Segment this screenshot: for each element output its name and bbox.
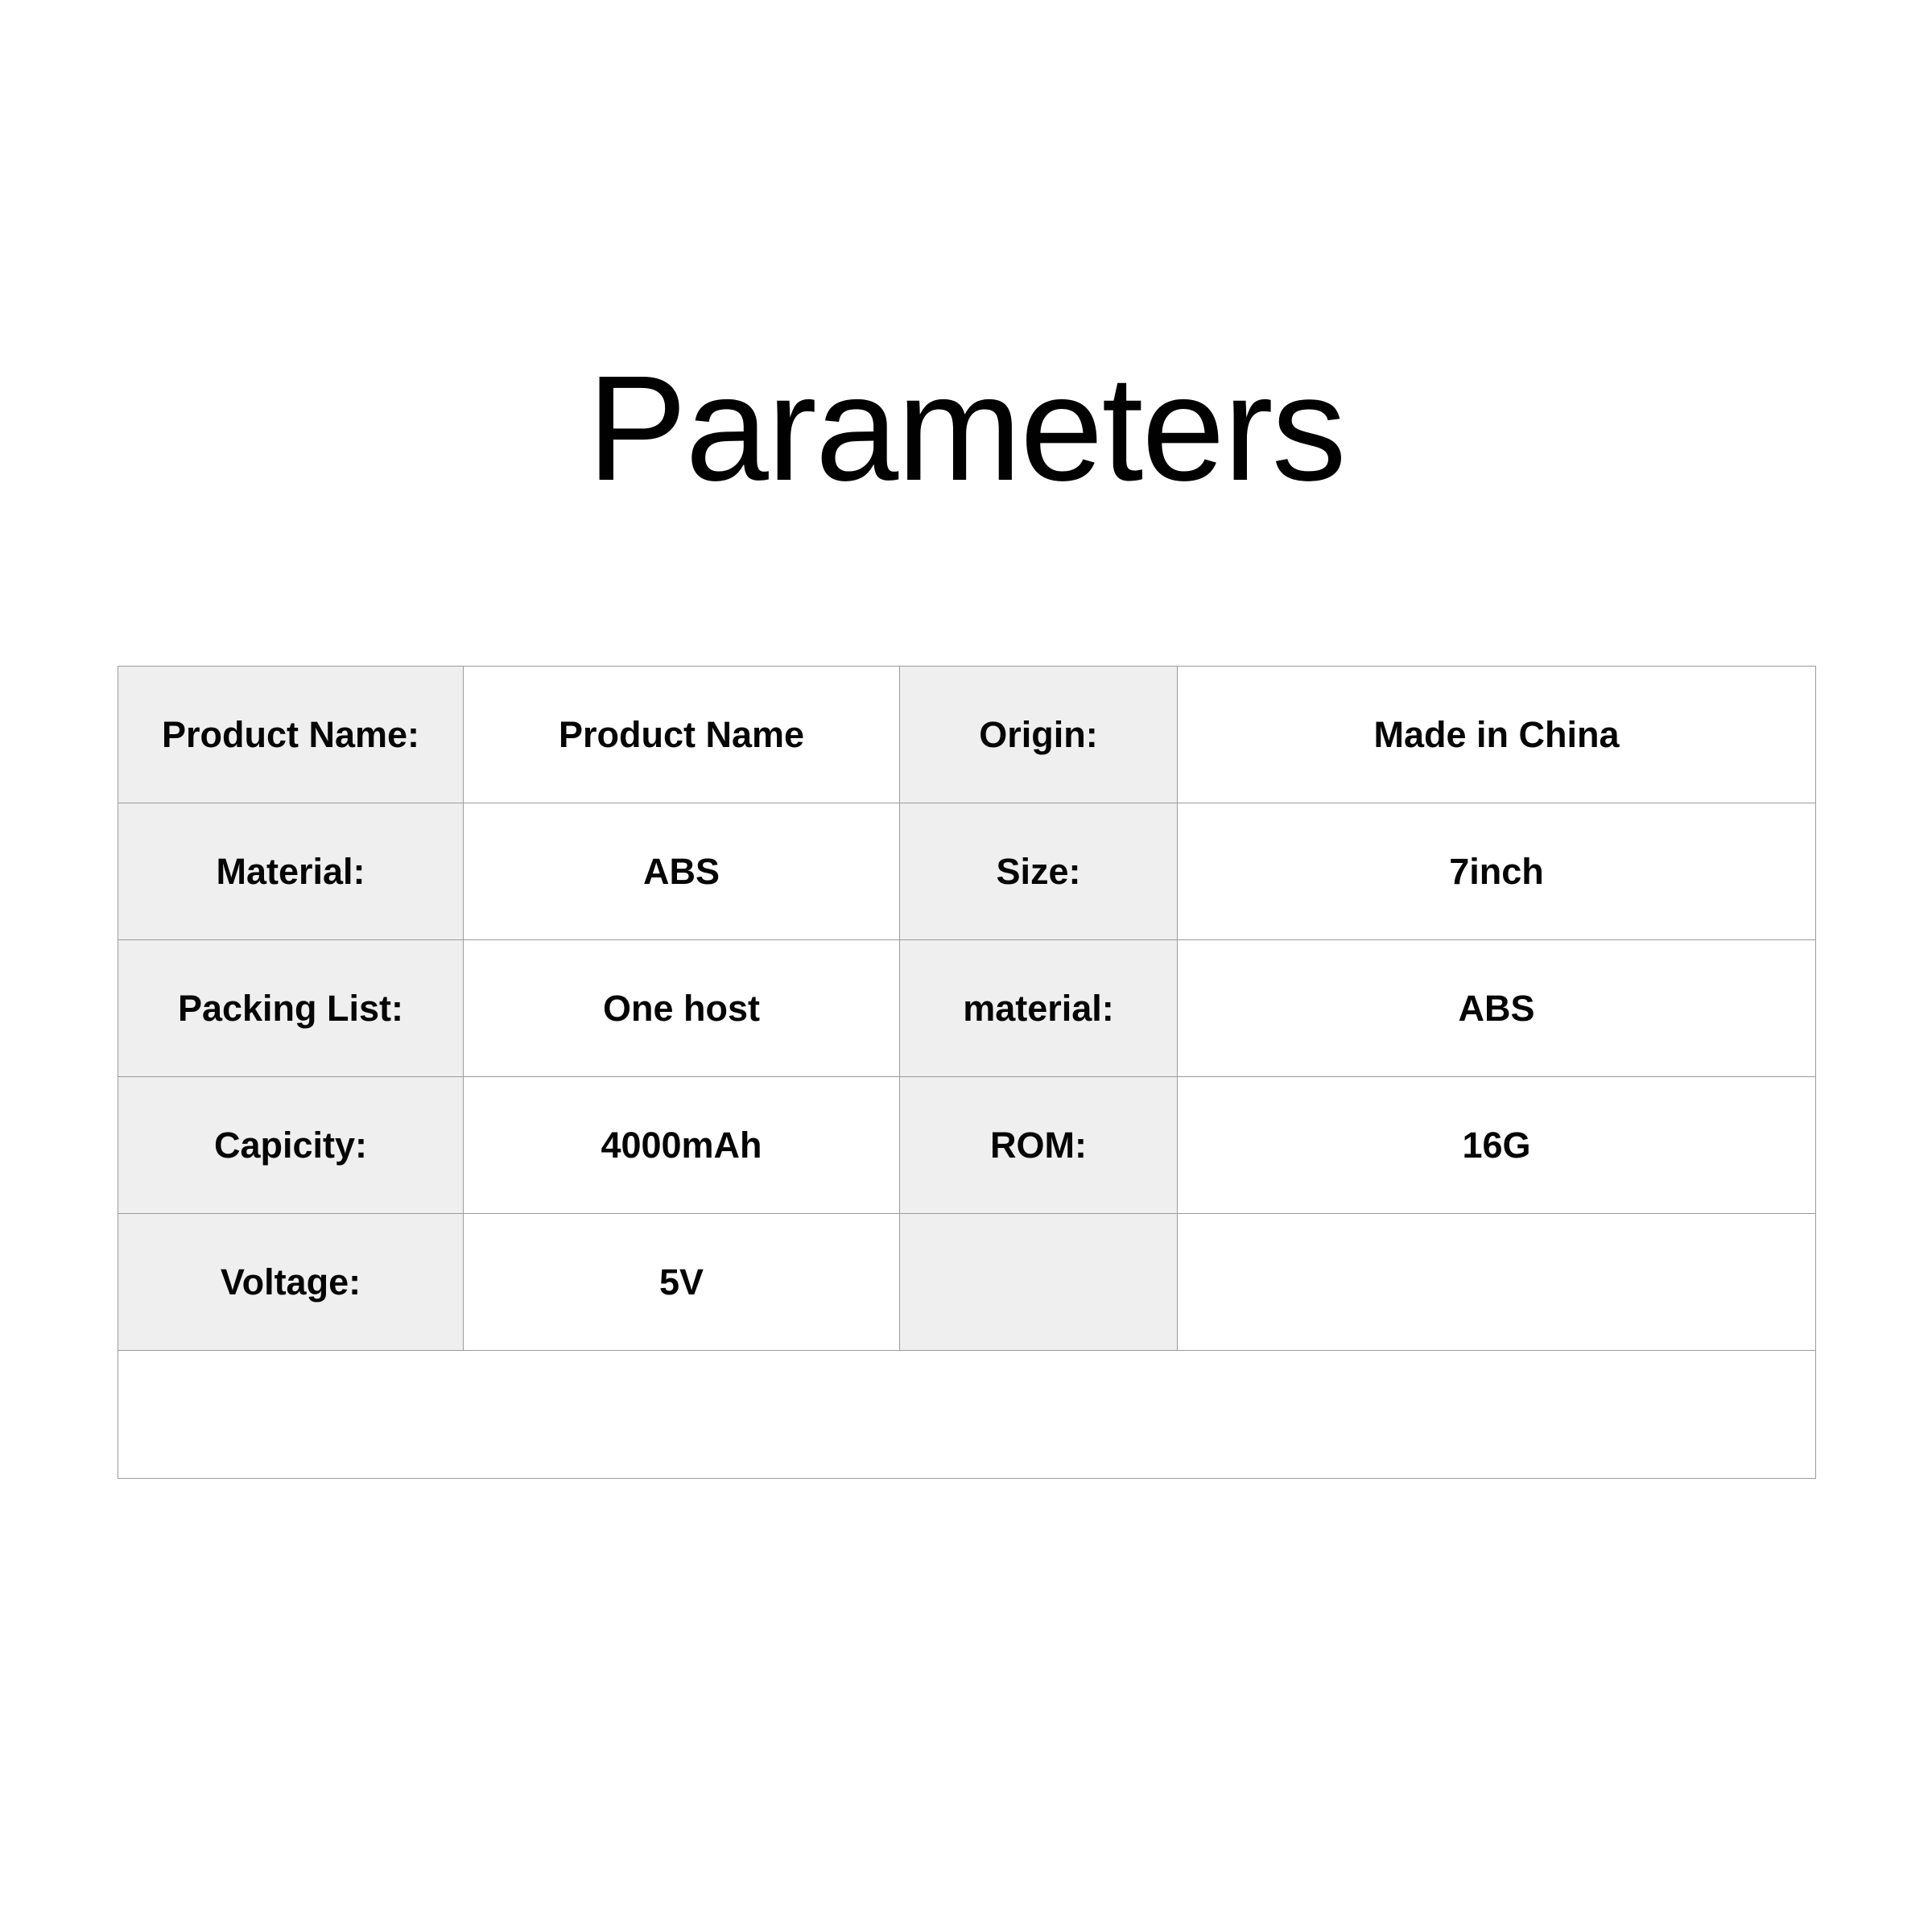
spec-label-rom: ROM: bbox=[900, 1077, 1178, 1214]
spec-value-voltage: 5V bbox=[464, 1214, 900, 1351]
spec-value-empty bbox=[1178, 1214, 1816, 1351]
spec-value-capicity: 4000mAh bbox=[464, 1077, 900, 1214]
spec-label-material-2: material: bbox=[900, 940, 1178, 1077]
table-row: Product Name: Product Name Origin: Made … bbox=[118, 667, 1816, 803]
spec-label-capicity: Capicity: bbox=[118, 1077, 464, 1214]
spec-label-material: Material: bbox=[118, 803, 464, 940]
spec-value-product-name: Product Name bbox=[464, 667, 900, 803]
spec-label-origin: Origin: bbox=[900, 667, 1178, 803]
spec-value-packing-list: One host bbox=[464, 940, 900, 1077]
spec-label-empty bbox=[900, 1214, 1178, 1351]
page-title: Parameters bbox=[0, 354, 1932, 504]
table-row-blank bbox=[118, 1351, 1816, 1479]
table-row: Material: ABS Size: 7inch bbox=[118, 803, 1816, 940]
spec-label-voltage: Voltage: bbox=[118, 1214, 464, 1351]
table-row: Capicity: 4000mAh ROM: 16G bbox=[118, 1077, 1816, 1214]
parameters-table: Product Name: Product Name Origin: Made … bbox=[118, 666, 1816, 1479]
spec-blank-row bbox=[118, 1351, 1816, 1479]
spec-label-product-name: Product Name: bbox=[118, 667, 464, 803]
spec-value-rom: 16G bbox=[1178, 1077, 1816, 1214]
table-row: Voltage: 5V bbox=[118, 1214, 1816, 1351]
table-row: Packing List: One host material: ABS bbox=[118, 940, 1816, 1077]
spec-value-origin: Made in China bbox=[1178, 667, 1816, 803]
spec-value-size: 7inch bbox=[1178, 803, 1816, 940]
spec-label-packing-list: Packing List: bbox=[118, 940, 464, 1077]
page-root: Parameters Product Name: Product Name Or… bbox=[0, 0, 1932, 1932]
spec-value-material-2: ABS bbox=[1178, 940, 1816, 1077]
spec-label-size: Size: bbox=[900, 803, 1178, 940]
spec-value-material: ABS bbox=[464, 803, 900, 940]
